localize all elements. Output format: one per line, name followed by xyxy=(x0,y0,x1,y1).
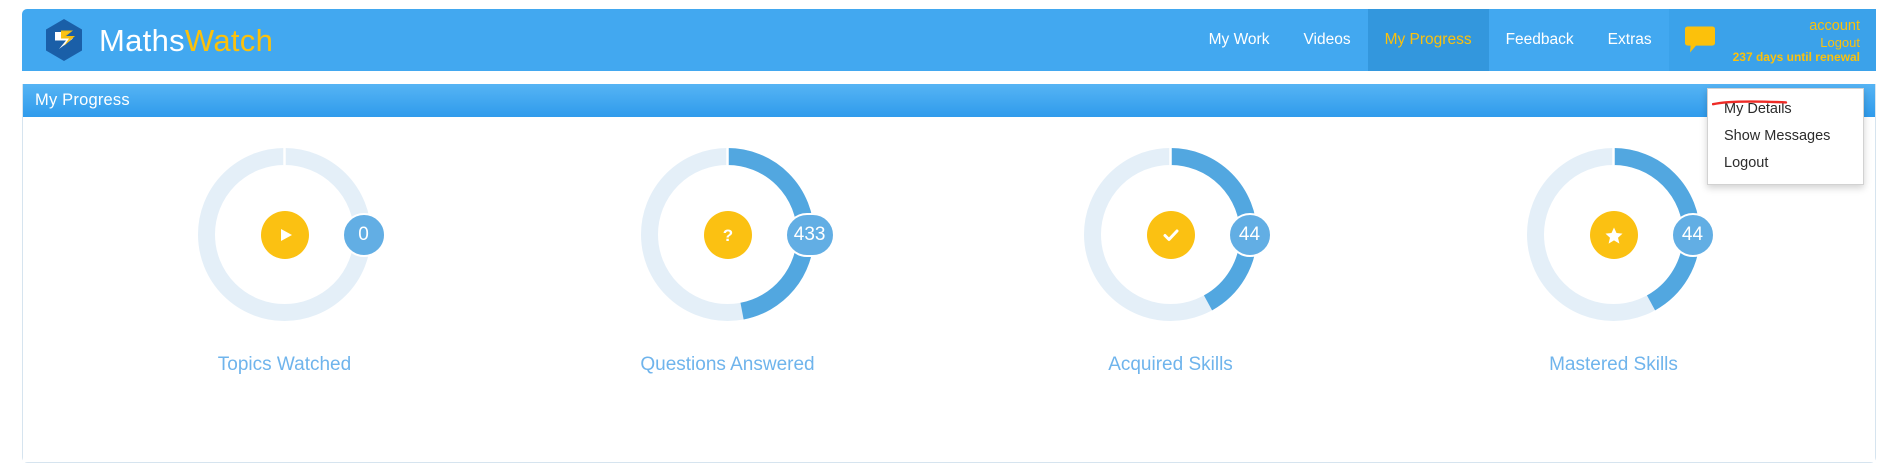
dropdown-item-my-details[interactable]: My Details xyxy=(1708,96,1863,123)
nav-item-my-work[interactable]: My Work xyxy=(1192,9,1287,71)
nav-item-feedback[interactable]: Feedback xyxy=(1489,9,1591,71)
brand-name-watch: Watch xyxy=(185,23,273,58)
stat-topics-watched[interactable]: 0 Topics Watched xyxy=(135,117,435,376)
stat-label-acquired-skills: Acquired Skills xyxy=(1108,354,1233,376)
top-navigation-bar: MathsWatch My Work Videos My Progress Fe… xyxy=(22,9,1876,71)
star-icon xyxy=(1590,211,1638,259)
donut-wrap-acquired-skills: 44 xyxy=(1056,137,1286,332)
stat-label-topics-watched: Topics Watched xyxy=(218,354,351,376)
donut-wrap-mastered-skills: 44 xyxy=(1499,137,1729,332)
dropdown-item-show-messages[interactable]: Show Messages xyxy=(1708,123,1863,150)
progress-stats-row: 0 Topics Watched ? xyxy=(23,117,1875,462)
account-dropdown-menu: My Details Show Messages Logout xyxy=(1707,88,1864,185)
speech-bubble-icon[interactable] xyxy=(1683,26,1717,54)
renewal-notice: 237 days until renewal xyxy=(1733,50,1860,64)
badge-topics-watched: 0 xyxy=(342,213,386,257)
donut-wrap-topics-watched: 0 xyxy=(170,137,400,332)
nav-item-extras[interactable]: Extras xyxy=(1591,9,1669,71)
nav-item-my-progress[interactable]: My Progress xyxy=(1368,9,1489,71)
panel-header: My Progress xyxy=(23,84,1875,117)
page-root: MathsWatch My Work Videos My Progress Fe… xyxy=(0,0,1898,469)
hexagon-lightning-logo-icon xyxy=(42,18,86,62)
badge-mastered-skills: 44 xyxy=(1671,213,1715,257)
brand-wordmark: MathsWatch xyxy=(99,25,273,56)
stat-acquired-skills[interactable]: 44 Acquired Skills xyxy=(1021,117,1321,376)
svg-text:?: ? xyxy=(722,226,732,245)
nav-logout-link[interactable]: Logout xyxy=(1820,35,1860,50)
account-menu-trigger[interactable]: account Logout 237 days until renewal xyxy=(1669,9,1876,71)
badge-acquired-skills: 44 xyxy=(1228,213,1272,257)
nav-item-videos[interactable]: Videos xyxy=(1286,9,1367,71)
dropdown-item-logout[interactable]: Logout xyxy=(1708,150,1863,177)
check-icon xyxy=(1147,211,1195,259)
stat-questions-answered[interactable]: ? 433 Questions Answered xyxy=(578,117,878,376)
stat-label-mastered-skills: Mastered Skills xyxy=(1549,354,1678,376)
page-title: My Progress xyxy=(35,91,130,110)
account-name-label[interactable]: account xyxy=(1809,18,1860,35)
nav-items-group: My Work Videos My Progress Feedback Extr… xyxy=(1192,9,1876,71)
donut-wrap-questions-answered: ? 433 xyxy=(613,137,843,332)
badge-questions-answered: 433 xyxy=(785,213,835,257)
play-icon xyxy=(261,211,309,259)
question-mark-icon: ? xyxy=(704,211,752,259)
my-progress-panel: My Progress xyxy=(22,84,1876,463)
stat-label-questions-answered: Questions Answered xyxy=(640,354,814,376)
brand-name-maths: Maths xyxy=(99,23,185,58)
account-info: account Logout 237 days until renewal xyxy=(1733,16,1860,65)
brand-logo[interactable]: MathsWatch xyxy=(42,18,273,62)
